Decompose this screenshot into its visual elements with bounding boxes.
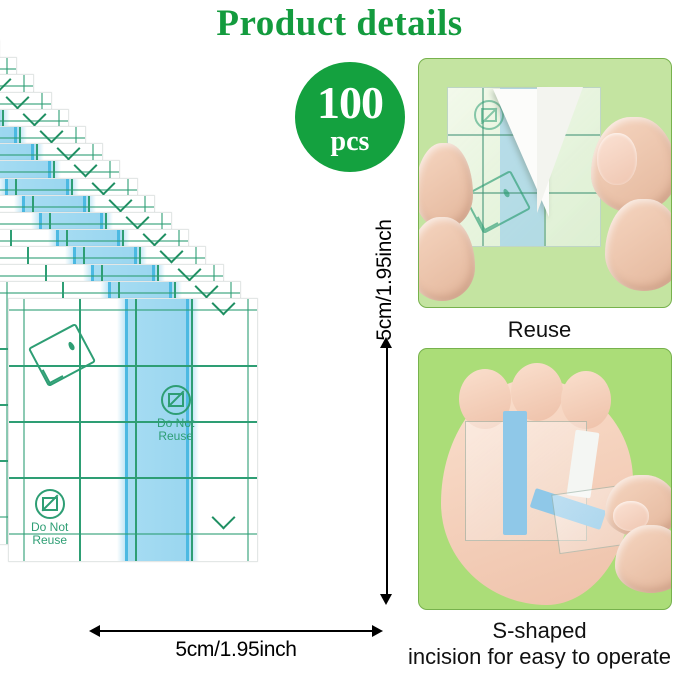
blue-liner-strip [503,411,527,535]
width-arrow-right-icon [372,625,383,637]
panel-incision-photo [418,348,672,610]
do-not-reuse-icon [161,385,191,415]
patch-grid-line [0,189,137,191]
incision-photo-content [419,349,671,609]
patch-grid-line [0,206,154,208]
page-title: Product details [0,2,679,45]
do-not-reuse-line2: Reuse [31,534,68,547]
caption-incision-line1: S-shaped [400,618,679,644]
quantity-badge: 100 pcs [295,62,405,172]
do-not-reuse-icon [35,489,65,519]
patch-grid-line [0,171,119,173]
peeled-film-shade [537,87,583,213]
patch-grid-line [135,299,137,561]
do-not-reuse-mark: Do NotReuse [31,489,68,547]
badge-count: 100 [295,62,405,128]
finger-right-middle [605,199,672,291]
do-not-reuse-line2: Reuse [157,430,194,443]
patch-grid-line [247,299,249,561]
badge-unit: pcs [295,128,405,156]
height-arrow-bottom-icon [380,594,392,605]
patch-grid-line [0,68,16,70]
caption-reuse: Reuse [400,317,679,343]
reuse-photo-content [419,59,671,307]
height-dimension-line [386,345,388,597]
patch-grid-line [0,103,51,105]
fingernail [597,133,637,185]
patch-grid-line [0,154,102,156]
do-not-reuse-mark: Do NotReuse [157,385,194,443]
width-dimension-line [97,630,375,632]
patch-grid-line [0,223,171,225]
patch-grid-line [23,299,25,561]
panel-reuse-photo [418,58,672,308]
patch-sheet: Do NotReuseDo NotReuse [8,298,258,562]
caption-incision-line2: incision for easy to operate [400,644,679,670]
width-arrow-left-icon [89,625,100,637]
patch-grid-line [9,421,257,423]
patch-grid-line [0,137,85,139]
caption-incision: S-shaped incision for easy to operate [400,618,679,670]
height-dimension-label: 5cm/1.95inch [373,185,397,375]
patch-grid-line [9,477,257,479]
width-dimension-label: 5cm/1.95inch [97,638,375,662]
